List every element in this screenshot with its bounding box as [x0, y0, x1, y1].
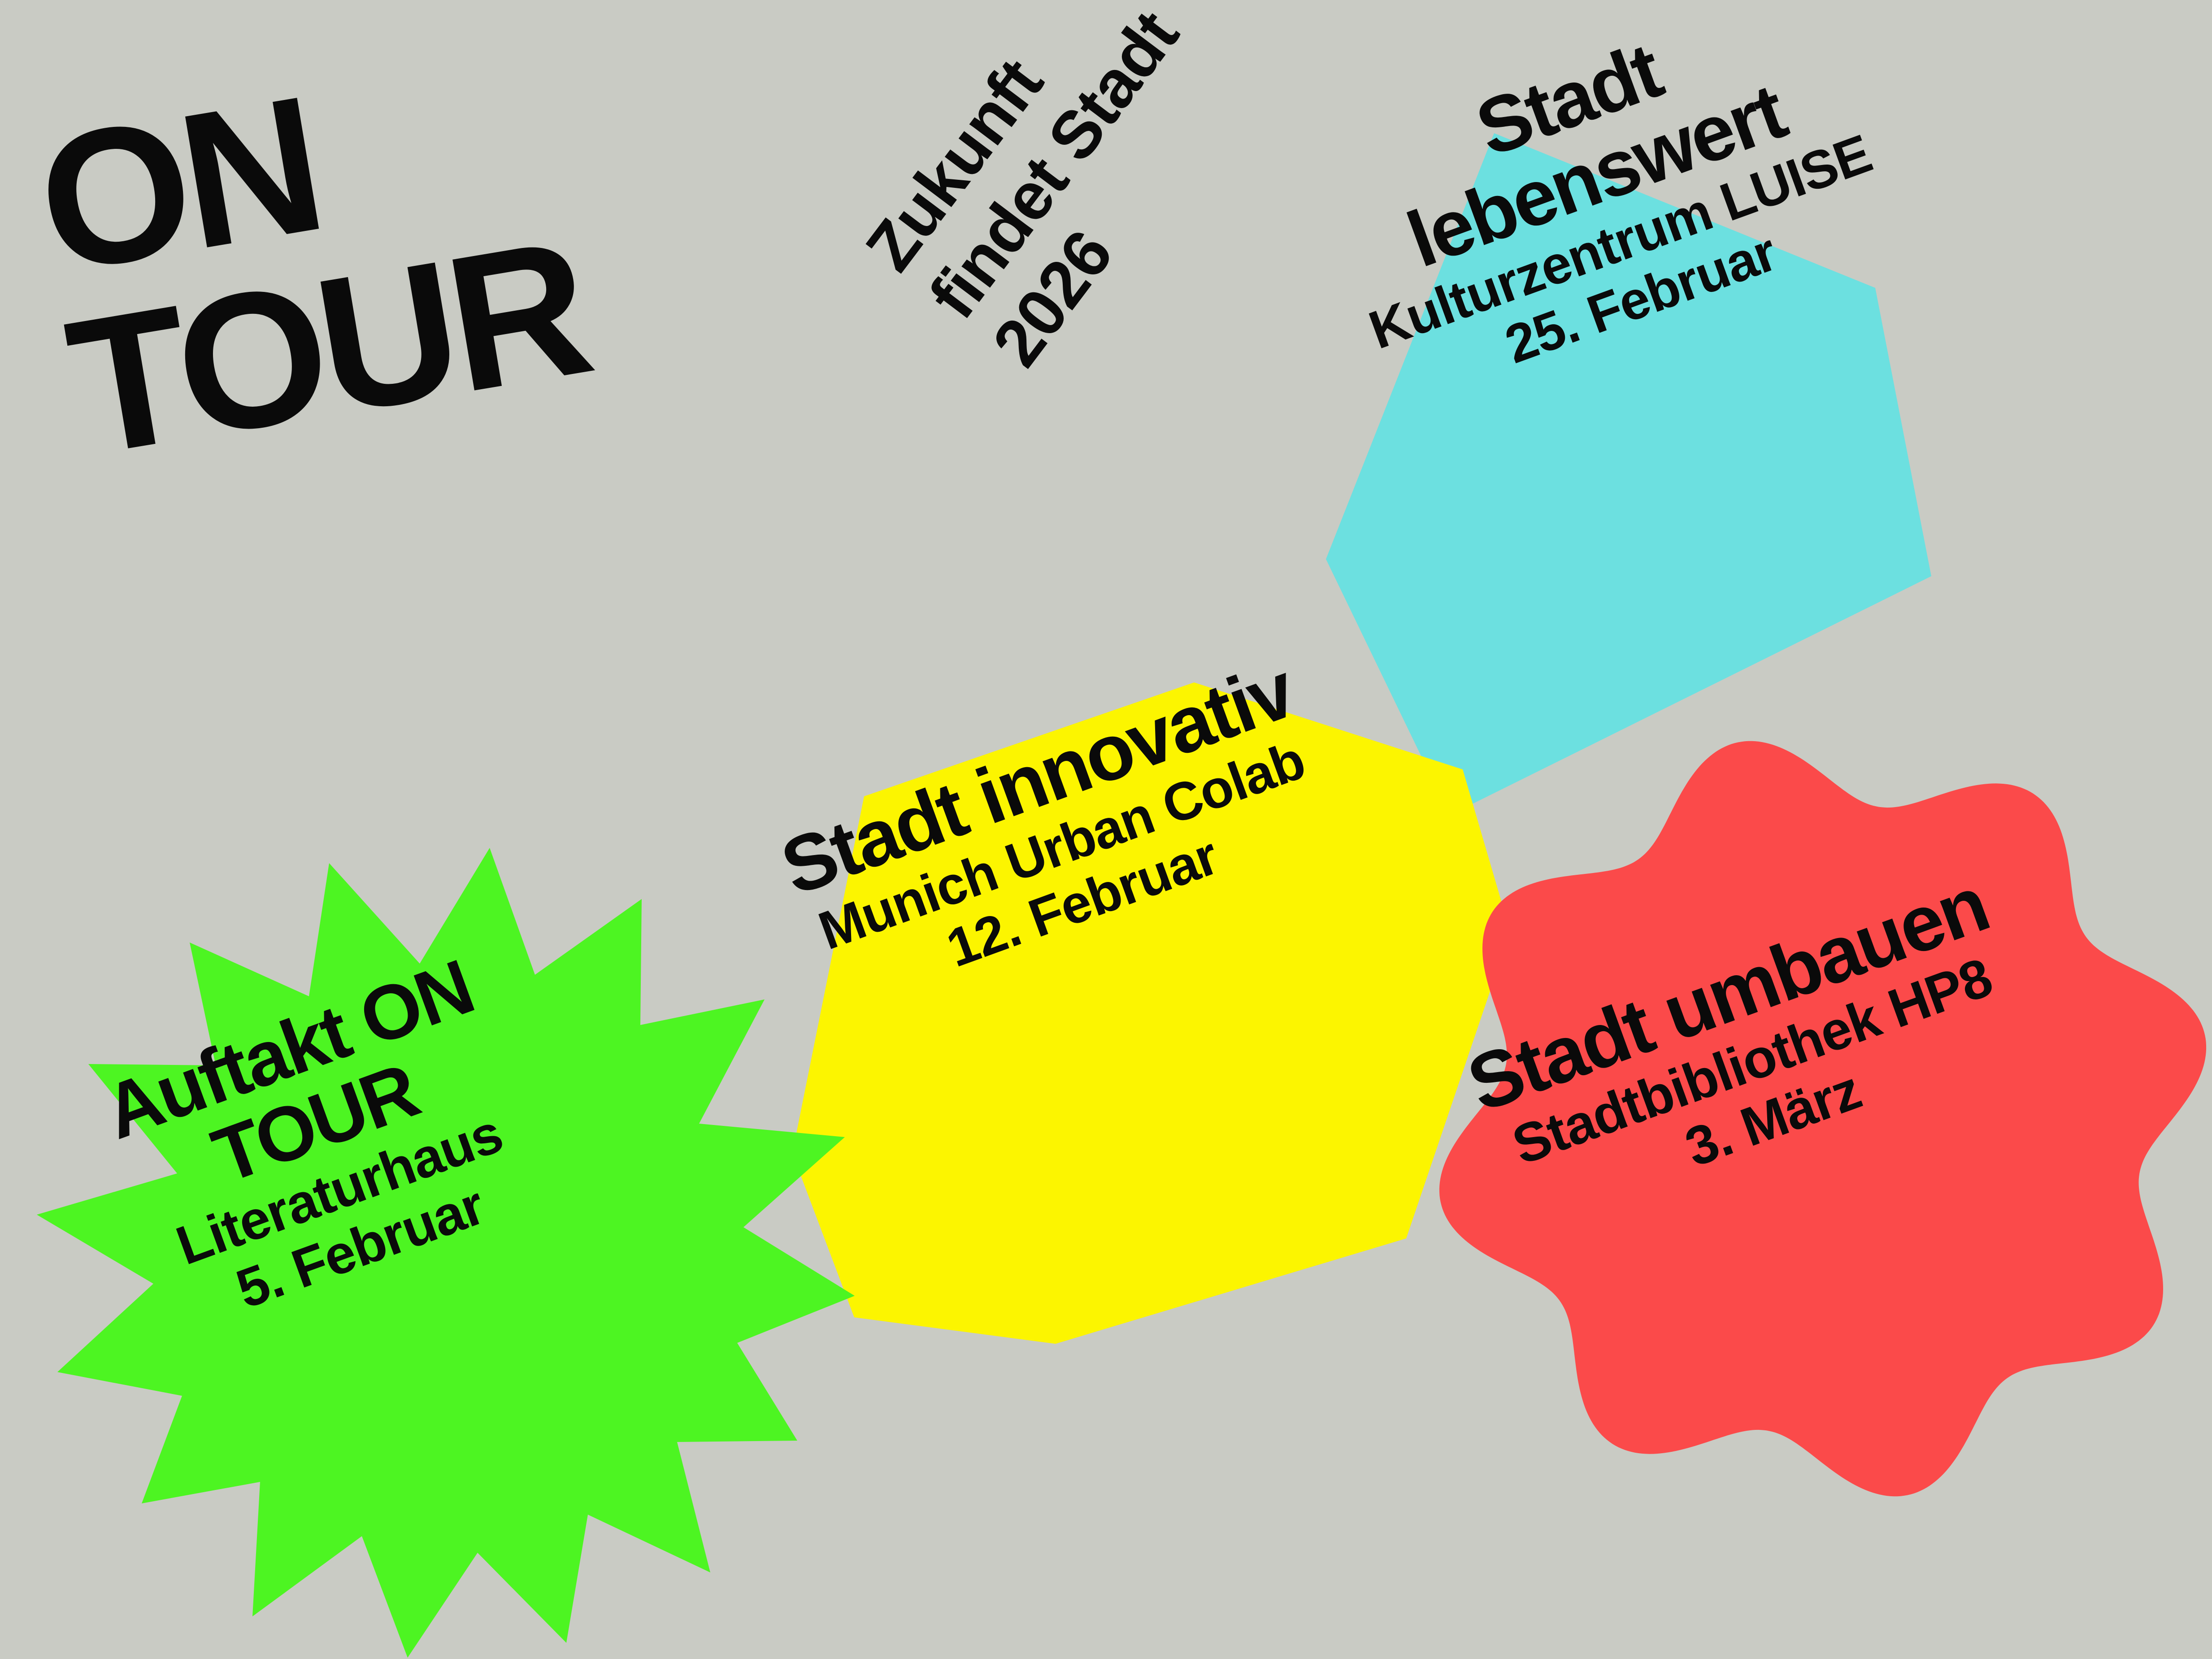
- page-title: ON TOUR: [27, 31, 597, 482]
- poster-canvas: ON TOUR Zukunft findet Stadt 2026 Stadt …: [0, 0, 2212, 1659]
